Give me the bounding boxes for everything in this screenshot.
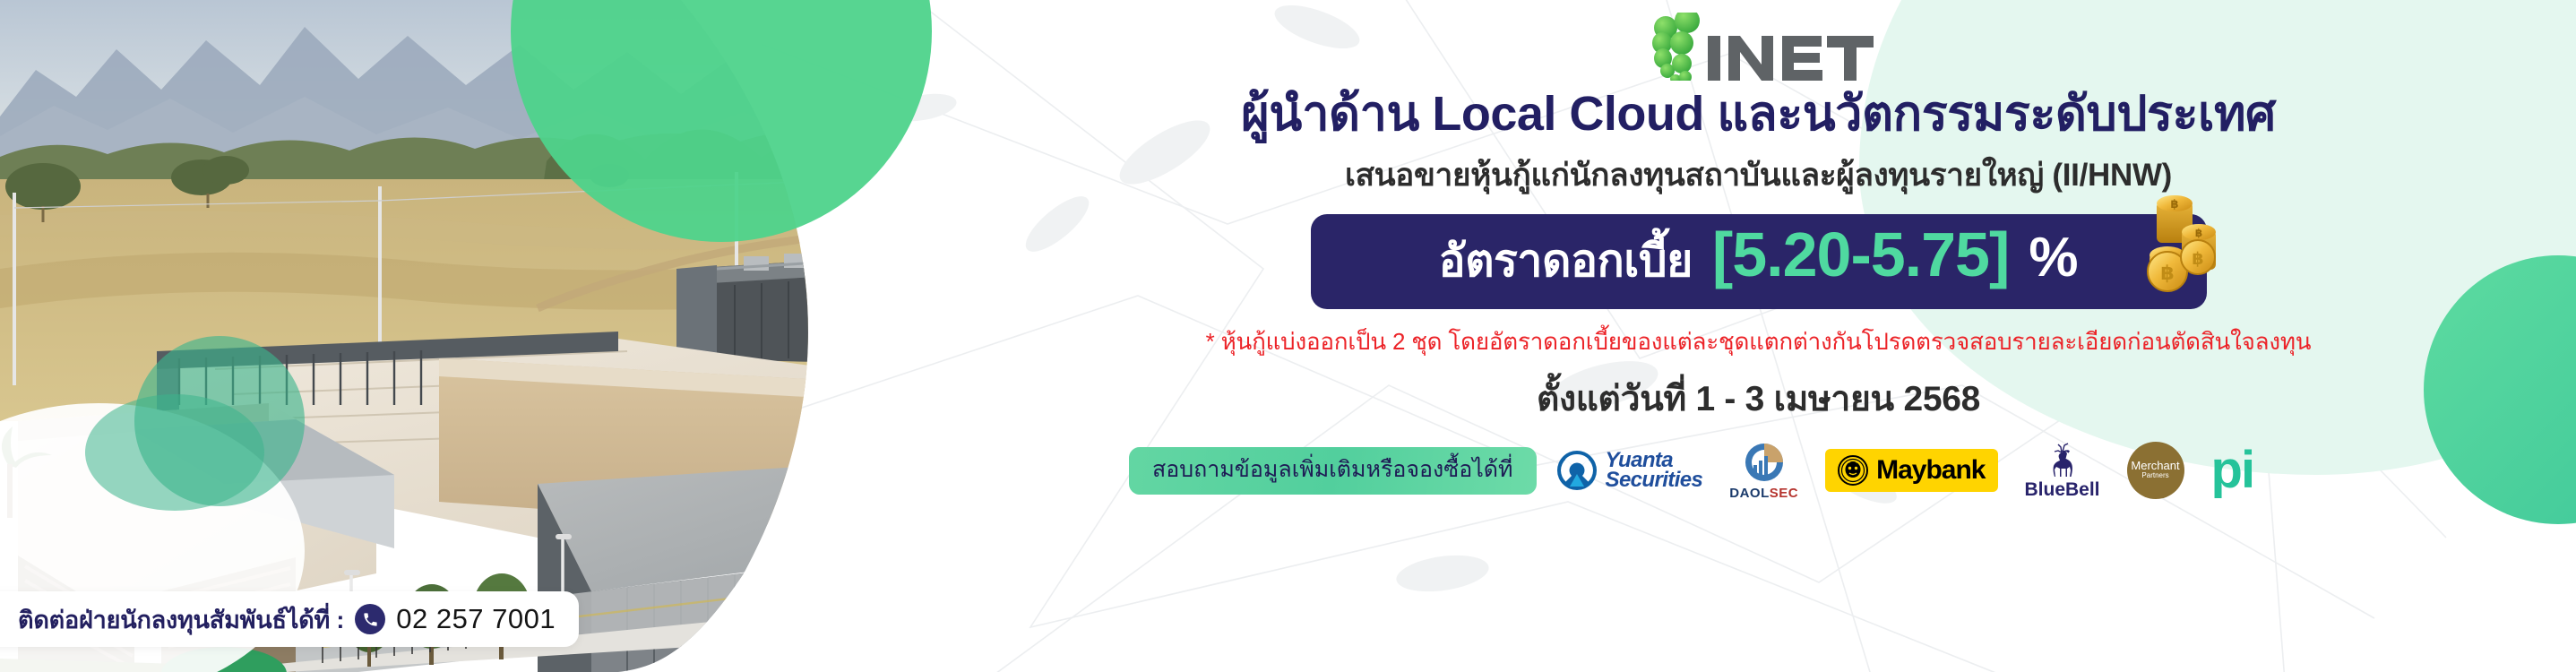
svg-text:฿: ฿ [2192,249,2203,269]
inet-logo[interactable] [1624,13,1893,81]
broker-logo-maybank[interactable]: Maybank [1825,449,1997,492]
content-column: ผู้นำด้าน Local Cloud และนวัตกรรมระดับปร… [941,0,2576,672]
broker-logo-daol-sec[interactable]: DAOLSEC [1729,441,1798,500]
yuanta-mark-icon [1556,450,1598,491]
merchant-line1: Merchant [2131,460,2179,471]
cta-and-brokers-row: สอบถามข้อมูลเพิ่มเติมหรือจองซื้อได้ที่ Y… [941,441,2576,500]
broker-logo-pi[interactable]: pi [2211,450,2254,491]
phone-icon [355,604,385,634]
svg-text:฿: ฿ [2160,263,2174,285]
svg-text:฿: ฿ [2194,227,2201,239]
bluebell-wordmark: BlueBell [2025,480,2100,499]
daol-line2: SEC [1770,486,1798,501]
page-title: ผู้นำด้าน Local Cloud และนวัตกรรมระดับปร… [1241,86,2276,142]
yuanta-wordmark: Yuanta Securities [1606,451,1703,490]
interest-rate-label: อัตราดอกเบี้ย [1439,226,1693,297]
broker-logo-yuanta[interactable]: Yuanta Securities [1556,450,1703,491]
contact-phone-number[interactable]: 02 257 7001 [396,603,556,635]
pi-wordmark: pi [2211,450,2254,491]
yuanta-line2: Securities [1606,470,1703,490]
interest-rate-unit: % [2029,230,2078,286]
inquire-subscribe-button[interactable]: สอบถามข้อมูลเพิ่มเติมหรือจองซื้อได้ที่ [1129,447,1537,495]
disclaimer-note: * หุ้นกู้แบ่งออกเป็น 2 ชุด โดยอัตราดอกเบ… [1206,323,2312,360]
merchant-line2: Partners [2141,471,2168,480]
daol-mark-icon [1742,441,1787,484]
broker-logo-bluebell[interactable]: BlueBell [2025,443,2100,499]
interest-rate-box: อัตราดอกเบี้ย [5.20-5.75] % [1311,214,2207,309]
broker-logos: Yuanta Securities DAOLSEC [1556,441,2254,500]
svg-text:฿: ฿ [2170,198,2178,211]
investor-relations-contact-bar[interactable]: ติดต่อฝ่ายนักลงทุนสัมพันธ์ได้ที่ : 02 25… [0,591,579,647]
contact-label: ติดต่อฝ่ายนักลงทุนสัมพันธ์ได้ที่ : [18,600,344,639]
merchant-partners-mark: Merchant Partners [2127,442,2184,499]
daol-line1: DAOL [1729,486,1770,501]
gold-coins-icon: ฿ ฿ ฿ [2115,189,2223,306]
inet-bond-offering-banner: ติดต่อฝ่ายนักลงทุนสัมพันธ์ได้ที่ : 02 25… [0,0,2576,672]
page-subtitle: เสนอขายหุ้นกู้แก่นักลงทุนสถาบันและผู้ลงท… [1345,151,2172,200]
broker-logo-merchant-partners[interactable]: Merchant Partners [2127,442,2184,499]
maybank-wordmark: Maybank [1876,457,1985,484]
offering-dates: ตั้งแต่วันที่ 1 - 3 เมษายน 2568 [1537,371,1980,426]
interest-rate-value: [5.20-5.75] [1712,223,2009,286]
inet-logo-mark [1624,13,1893,81]
bluebell-deer-icon [2043,443,2082,478]
maybank-tiger-icon [1838,455,1868,486]
daol-wordmark: DAOLSEC [1729,487,1798,500]
interest-rate-block: อัตราดอกเบี้ย [5.20-5.75] % [1311,214,2207,309]
